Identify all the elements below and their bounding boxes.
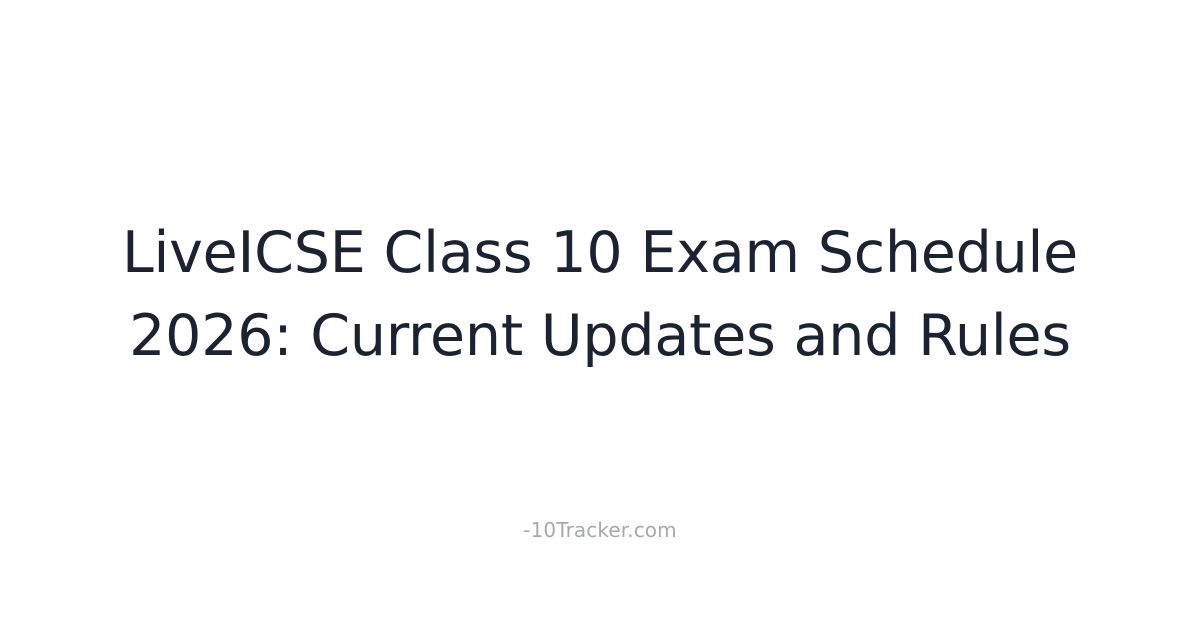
page-title: LiveICSE Class 10 Exam Schedule 2026: Cu… <box>60 212 1140 377</box>
site-watermark: -10Tracker.com <box>0 518 1200 542</box>
article-share-card: LiveICSE Class 10 Exam Schedule 2026: Cu… <box>0 0 1200 628</box>
